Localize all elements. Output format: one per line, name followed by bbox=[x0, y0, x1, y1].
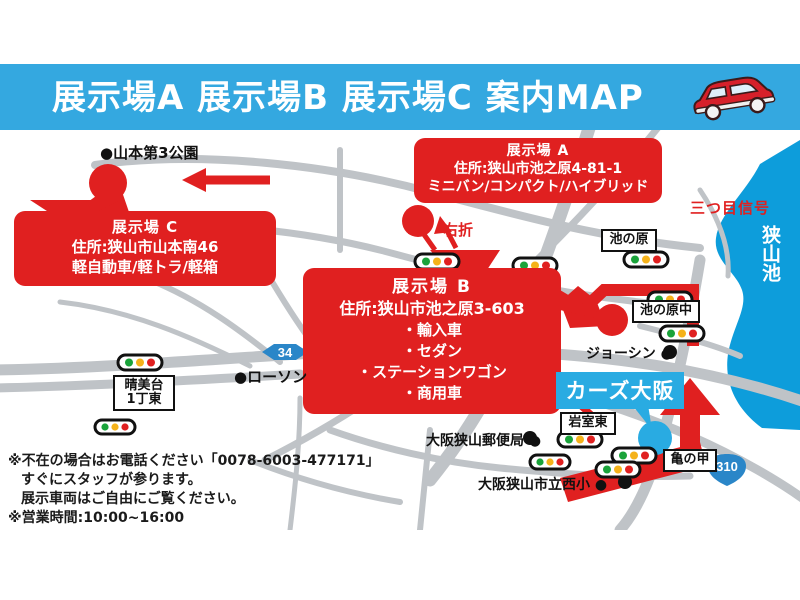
poi-label-lawson: ●ローソン bbox=[234, 366, 307, 387]
showroom-c-address: 住所:狭山市山本南46 bbox=[14, 237, 276, 257]
intersection-ikenohara: 池の原 bbox=[601, 229, 657, 252]
intersection-ikenohara-naka: 池の原中 bbox=[632, 300, 700, 323]
traffic-signal bbox=[95, 420, 135, 434]
showroom-b-address: 住所:狭山市池之原3-603 bbox=[303, 298, 561, 320]
intersection-iwamuro-higashi: 岩室東 bbox=[560, 412, 616, 435]
showroom-b-item-2: ・ステーションワゴン bbox=[303, 362, 561, 383]
footer-line-2: すぐにスタッフが参ります。 bbox=[8, 471, 408, 490]
footer-line-1: ※不在の場合はお電話ください「0078-6003-477171」 bbox=[8, 452, 408, 471]
traffic-signal bbox=[415, 254, 459, 269]
annotation-turn-right: 右折 bbox=[443, 219, 473, 240]
traffic-signal bbox=[660, 326, 704, 341]
showroom-b-title: 展示場 B bbox=[303, 276, 561, 298]
showroom-b-item-3: ・商用車 bbox=[303, 383, 561, 404]
showroom-b-item-0: ・輸入車 bbox=[303, 320, 561, 341]
intersection-ikenohara-naka-text: 池の原中 bbox=[634, 304, 698, 318]
intersection-kamenoko-text: 亀の甲 bbox=[665, 453, 715, 467]
showroom-c-balloon[interactable]: 展示場 C 住所:狭山市山本南46 軽自動車/軽トラ/軽箱 bbox=[14, 211, 276, 286]
red-car-icon bbox=[686, 73, 778, 123]
traffic-signal bbox=[530, 455, 570, 469]
showroom-b-marker bbox=[596, 304, 628, 336]
showroom-a-marker bbox=[402, 205, 434, 237]
intersection-ikenohara-text: 池の原 bbox=[603, 233, 655, 247]
intersection-harumidai-line2: 1丁東 bbox=[115, 393, 173, 407]
showroom-c-title: 展示場 C bbox=[14, 218, 276, 237]
poi-label-post-office: 大阪狭山郵便局 ● bbox=[426, 430, 541, 450]
footer-notes: ※不在の場合はお電話ください「0078-6003-477171」 すぐにスタッフ… bbox=[8, 452, 408, 528]
shop-label-cars-osaka[interactable]: カーズ大阪 bbox=[556, 372, 684, 409]
showroom-c-marker bbox=[89, 164, 127, 202]
showroom-a-categories: ミニバン/コンパクト/ハイブリッド bbox=[414, 178, 662, 196]
showroom-a-balloon[interactable]: 展示場 A 住所:狭山市池之原4-81-1 ミニバン/コンパクト/ハイブリッド bbox=[414, 138, 662, 203]
lake-label-sayama-pond: 狭山池 bbox=[760, 225, 779, 282]
annotation-third-signal: 三つ目信号 bbox=[690, 197, 770, 218]
traffic-signal bbox=[624, 252, 668, 267]
intersection-harumidai-line1: 晴美台 bbox=[115, 379, 173, 393]
intersection-kamenoko: 亀の甲 bbox=[663, 449, 717, 472]
intersection-iwamuro-higashi-text: 岩室東 bbox=[562, 416, 614, 430]
showroom-a-title: 展示場 A bbox=[414, 143, 662, 160]
showroom-a-address: 住所:狭山市池之原4-81-1 bbox=[414, 160, 662, 178]
svg-text:310: 310 bbox=[716, 459, 738, 474]
poi-label-nishi-elementary: 大阪狭山市立西小 ● bbox=[478, 474, 607, 494]
intersection-harumidai: 晴美台 1丁東 bbox=[113, 375, 175, 411]
showroom-b-balloon[interactable]: 展示場 B 住所:狭山市池之原3-603 ・輸入車 ・セダン ・ステーションワゴ… bbox=[303, 268, 561, 414]
traffic-signal bbox=[118, 355, 162, 370]
footer-line-4: ※営業時間:10:00~16:00 bbox=[8, 509, 408, 528]
page-title: 展示場A 展示場B 展示場C 案内MAP bbox=[52, 74, 692, 122]
showroom-c-categories: 軽自動車/軽トラ/軽箱 bbox=[14, 257, 276, 277]
showroom-b-item-1: ・セダン bbox=[303, 341, 561, 362]
svg-text:34: 34 bbox=[278, 345, 293, 360]
map-page: 展示場A 展示場B 展示場C 案内MAP bbox=[0, 0, 800, 600]
poi-label-joshin: ジョーシン ● bbox=[586, 343, 673, 363]
poi-label-yamamoto-park: ●山本第3公園 bbox=[100, 142, 199, 163]
footer-line-3: 展示車両はご自由にご覧ください。 bbox=[8, 490, 408, 509]
